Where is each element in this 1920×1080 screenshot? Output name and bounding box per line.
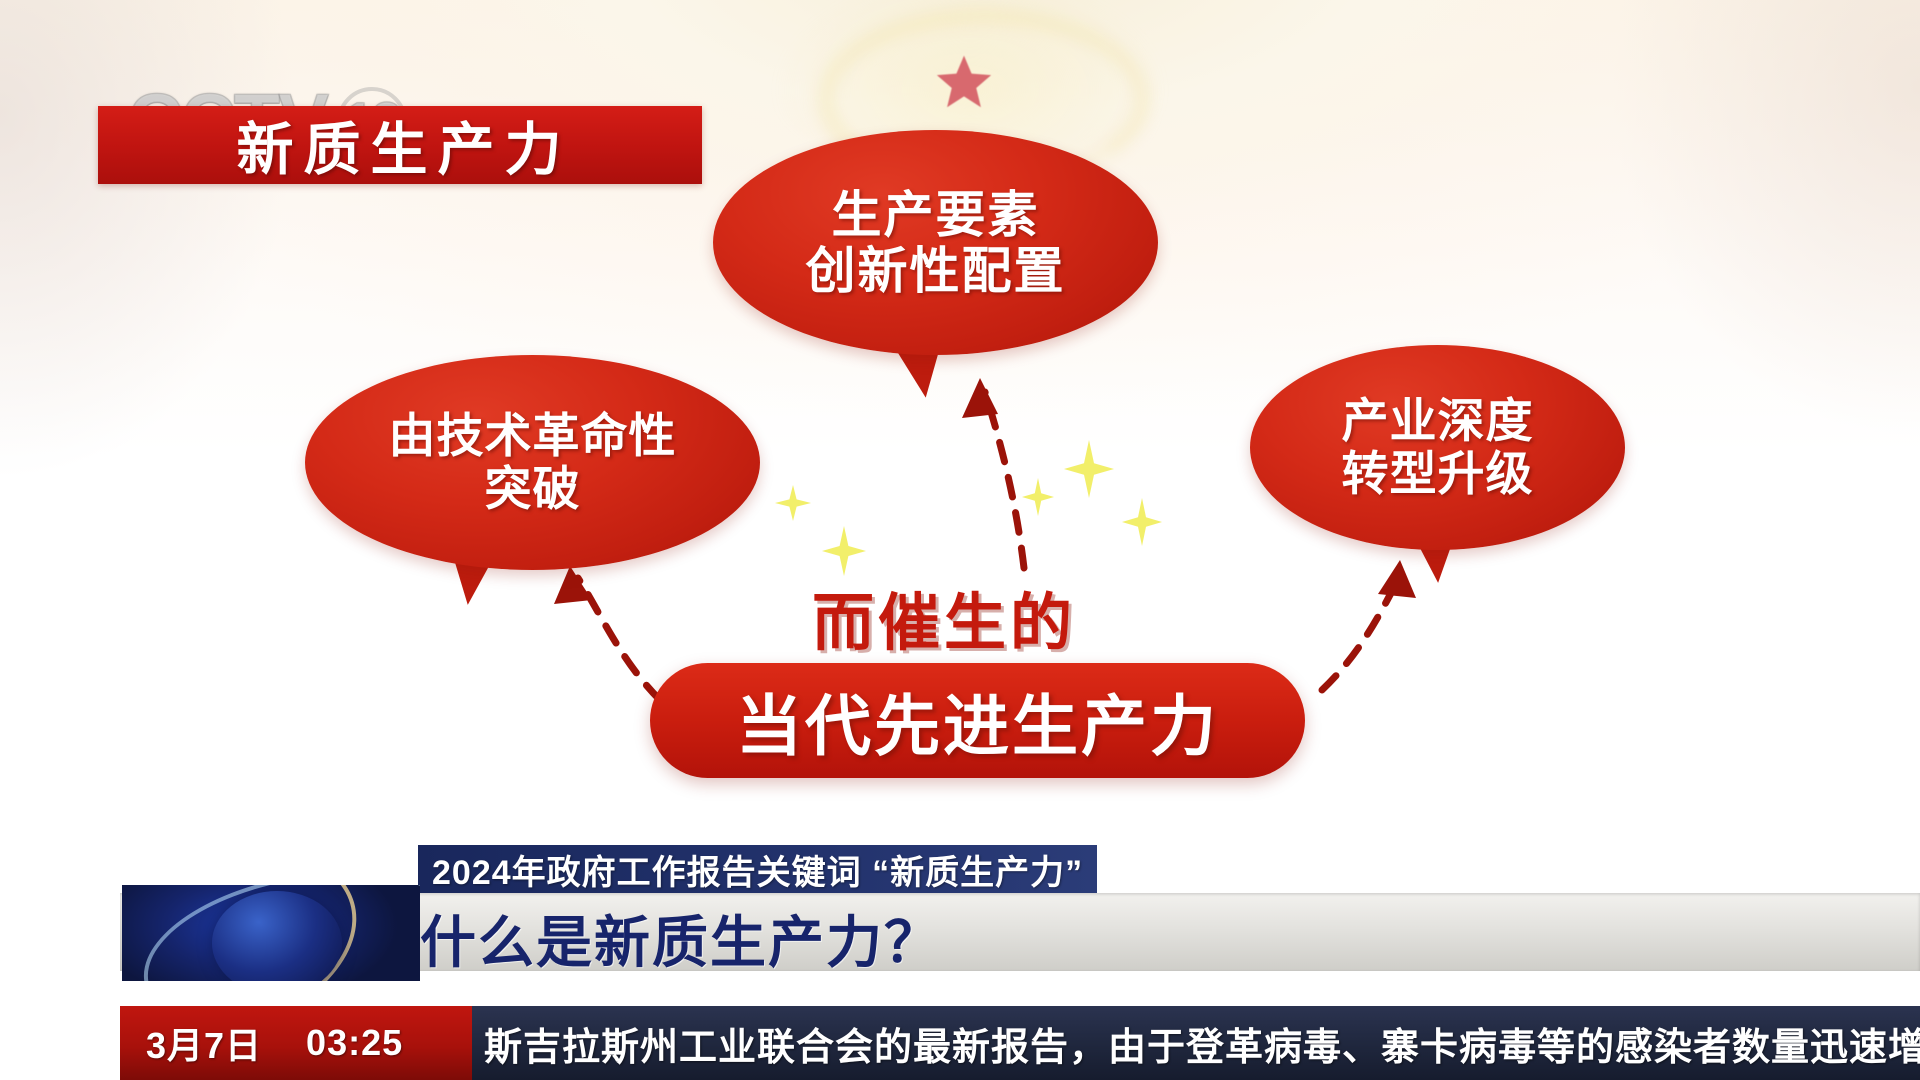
bubble-line-2: 转型升级 bbox=[1342, 448, 1534, 501]
ticker-time: 03:25 bbox=[306, 1022, 403, 1064]
red-star-icon bbox=[928, 48, 1000, 118]
bubble-line-2: 突破 bbox=[485, 463, 581, 516]
ticker-date: 3月7日 bbox=[146, 1017, 262, 1069]
capsule-modern-productivity: 当代先进生产力 bbox=[650, 663, 1305, 778]
bubble-technology-breakthrough: 由技术革命性 突破 bbox=[305, 355, 760, 570]
cctv-globe-logo-icon bbox=[122, 885, 420, 981]
bubble-line-2: 创新性配置 bbox=[806, 243, 1066, 299]
bubble-line-1: 生产要素 bbox=[832, 187, 1040, 243]
bubble-text: 由技术革命性 突破 bbox=[305, 355, 760, 570]
bubble-text: 生产要素 创新性配置 bbox=[713, 130, 1158, 355]
title-banner-text: 新质生产力 bbox=[98, 106, 702, 184]
news-ticker: 3月7日 03:25 斯吉拉斯州工业联合会的最新报告，由于登革病毒、寨卡病毒等的… bbox=[120, 1006, 1920, 1080]
bubble-industry-upgrade: 产业深度 转型升级 bbox=[1250, 345, 1625, 550]
broadcast-screen: CCTV 13 新质生产力 生产要素 创新性配置 bbox=[0, 0, 1920, 1080]
lower-third-kicker-text: 2024年政府工作报告关键词 “新质生产力” bbox=[432, 845, 1083, 894]
lower-third-kicker: 2024年政府工作报告关键词 “新质生产力” bbox=[418, 845, 1097, 893]
ticker-datetime: 3月7日 03:25 bbox=[120, 1006, 472, 1080]
ticker-headline-text: 斯吉拉斯州工业联合会的最新报告，由于登革病毒、寨卡病毒等的感染者数量迅速增长，2… bbox=[472, 1016, 1920, 1071]
diagram-mid-text: 而催生的 bbox=[812, 572, 1076, 662]
title-banner: 新质生产力 bbox=[98, 106, 702, 184]
bubble-line-1: 由技术革命性 bbox=[389, 410, 677, 463]
bubble-production-factors: 生产要素 创新性配置 bbox=[713, 130, 1158, 355]
bubble-text: 产业深度 转型升级 bbox=[1250, 345, 1625, 550]
bubble-line-1: 产业深度 bbox=[1342, 395, 1534, 448]
capsule-text: 当代先进生产力 bbox=[736, 673, 1219, 769]
lower-third-headline: 什么是新质生产力？ bbox=[420, 898, 942, 979]
